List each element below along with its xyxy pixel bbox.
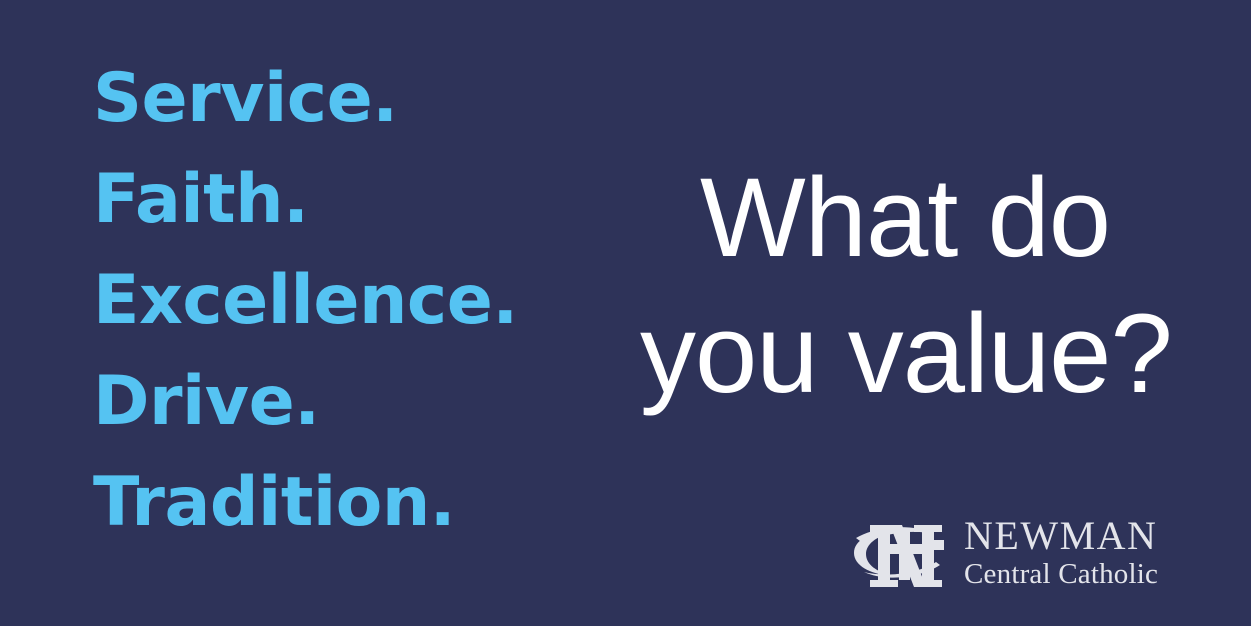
value-item-faith: Faith. <box>93 149 653 250</box>
value-item-service: Service. <box>93 48 653 149</box>
value-item-excellence: Excellence. <box>93 250 653 351</box>
headline-line-1: What do <box>640 150 1170 286</box>
value-item-drive: Drive. <box>93 351 653 452</box>
logo-wordmark: NEWMAN Central Catholic <box>964 516 1158 591</box>
newman-n-cross-monogram-icon <box>846 508 950 598</box>
headline-line-2: you value? <box>640 286 1170 422</box>
values-list: Service. Faith. Excellence. Drive. Tradi… <box>93 48 653 553</box>
logo-school-name: NEWMAN <box>964 516 1158 556</box>
logo-school-tagline: Central Catholic <box>964 558 1158 591</box>
poster-canvas: Service. Faith. Excellence. Drive. Tradi… <box>0 0 1251 626</box>
headline-question: What do you value? <box>640 150 1170 422</box>
value-item-tradition: Tradition. <box>93 452 653 553</box>
newman-central-catholic-logo: NEWMAN Central Catholic <box>846 508 1158 598</box>
